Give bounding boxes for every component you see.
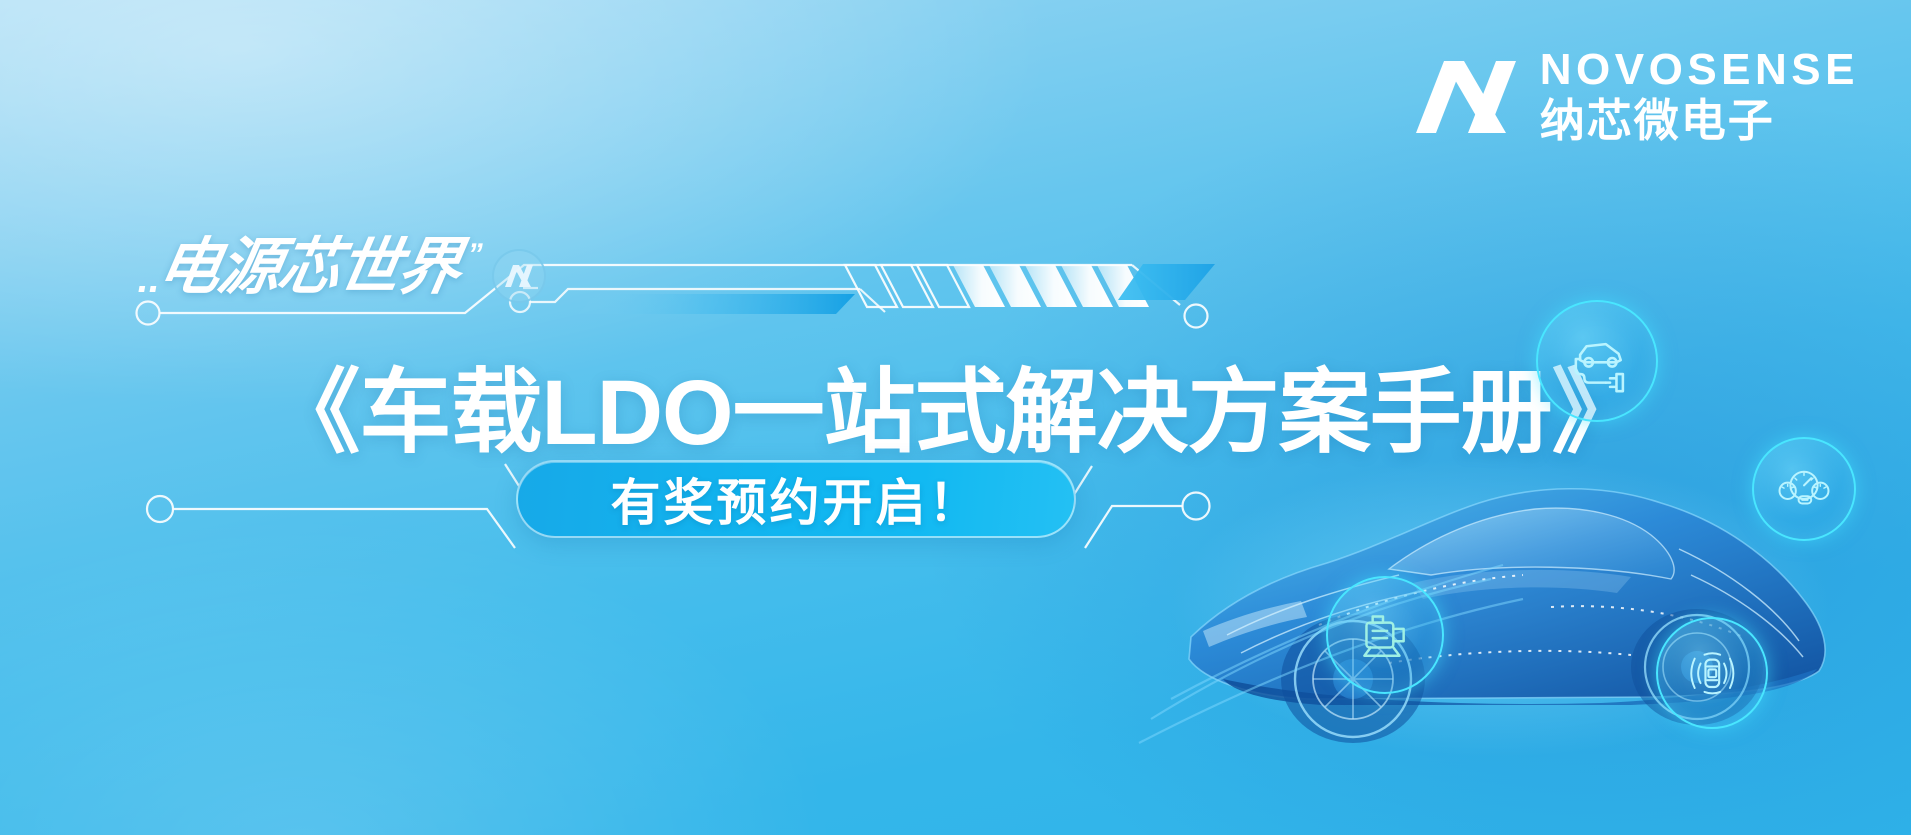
feature-icon-ev-charging[interactable] bbox=[1536, 300, 1658, 422]
brand-quote-mark: ” bbox=[465, 238, 484, 272]
logo-wordmark: NOVOSENSE 纳芯微电子 bbox=[1540, 48, 1859, 143]
dashboard-gauge-cluster-icon bbox=[1775, 460, 1833, 518]
novosense-n-mark-icon bbox=[504, 264, 534, 288]
feature-icon-instrument-cluster[interactable] bbox=[1752, 437, 1856, 541]
novosense-n-logo-icon bbox=[1414, 57, 1518, 135]
brand-name: 电源芯世界 bbox=[152, 216, 468, 306]
reservation-cta-label: 有奖预约开启！ bbox=[611, 463, 982, 535]
brand-lockup: .. 电源芯世界 ” bbox=[160, 216, 475, 306]
novosense-logo: NOVOSENSE 纳芯微电子 bbox=[1414, 48, 1859, 143]
ev-charging-car-icon bbox=[1563, 327, 1631, 395]
feature-icon-adas-sensing[interactable] bbox=[1656, 617, 1768, 729]
reservation-cta-badge[interactable]: 有奖预约开启！ bbox=[516, 460, 1076, 538]
feature-icon-electric-motor[interactable] bbox=[1326, 576, 1444, 694]
background-light-wash-bottom-left bbox=[0, 515, 840, 835]
electric-motor-icon bbox=[1352, 602, 1418, 668]
logo-chinese-name: 纳芯微电子 bbox=[1540, 98, 1859, 143]
brand-seal bbox=[492, 249, 546, 303]
car-radar-sensing-icon bbox=[1681, 642, 1744, 705]
promo-banner: NOVOSENSE 纳芯微电子 .. 电源芯世界 ” 《车载LDO一站式解决方案… bbox=[0, 0, 1911, 835]
logo-english-name: NOVOSENSE bbox=[1540, 48, 1859, 92]
